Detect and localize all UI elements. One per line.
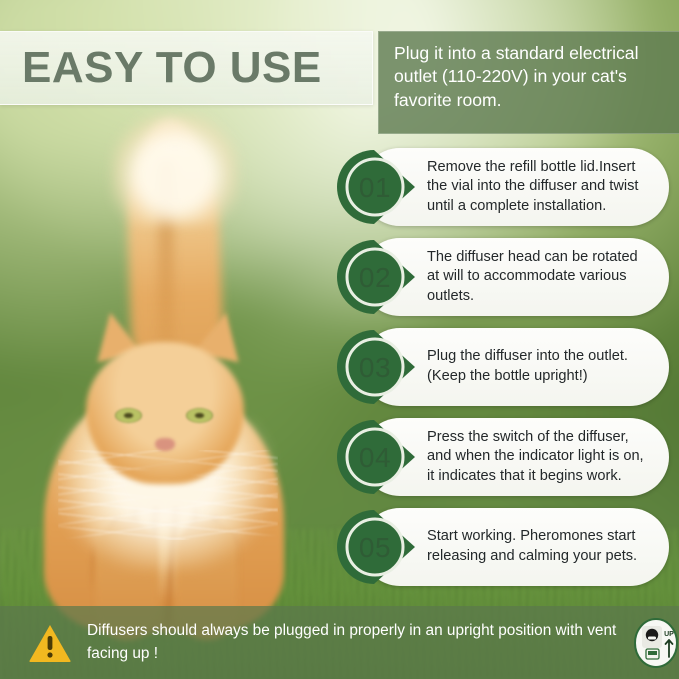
step-item: Plug the diffuser into the outlet. (Keep… bbox=[335, 328, 669, 406]
step-text: Start working. Pheromones start releasin… bbox=[427, 527, 651, 566]
intro-panel: Plug it into a standard electrical outle… bbox=[378, 31, 679, 134]
svg-text:UP: UP bbox=[664, 631, 674, 638]
step-item: The diffuser head can be rotated at will… bbox=[335, 238, 669, 316]
step-number: 03 bbox=[346, 347, 404, 389]
cat-eye-left bbox=[115, 408, 142, 423]
warning-triangle-icon bbox=[28, 623, 72, 663]
step-item: Press the switch of the diffuser, and wh… bbox=[335, 418, 669, 496]
step-text: Press the switch of the diffuser, and wh… bbox=[427, 428, 651, 487]
cat-tail-fluff bbox=[112, 114, 238, 224]
warning-bar: Diffusers should always be plugged in pr… bbox=[0, 606, 679, 679]
title-band: EASY TO USE bbox=[0, 31, 373, 105]
step-item: Remove the refill bottle lid.Insert the … bbox=[335, 148, 669, 226]
cat-eye-right bbox=[186, 408, 213, 423]
step-number: 01 bbox=[346, 167, 404, 209]
step-text: The diffuser head can be rotated at will… bbox=[427, 248, 651, 307]
steps-list: Remove the refill bottle lid.Insert the … bbox=[335, 148, 669, 598]
step-number: 04 bbox=[346, 437, 404, 479]
infographic-page: EASY TO USE Plug it into a standard elec… bbox=[0, 0, 679, 679]
upright-orientation-badge-icon: UP bbox=[633, 617, 679, 669]
warning-text: Diffusers should always be plugged in pr… bbox=[87, 620, 617, 665]
step-number: 05 bbox=[346, 527, 404, 569]
cat-photo-subject bbox=[0, 120, 345, 620]
step-text: Remove the refill bottle lid.Insert the … bbox=[427, 158, 651, 217]
cat-whiskers bbox=[58, 450, 278, 540]
step-number: 02 bbox=[346, 257, 404, 299]
page-title: EASY TO USE bbox=[22, 46, 322, 90]
step-item: Start working. Pheromones start releasin… bbox=[335, 508, 669, 586]
step-text: Plug the diffuser into the outlet. (Keep… bbox=[427, 347, 651, 386]
